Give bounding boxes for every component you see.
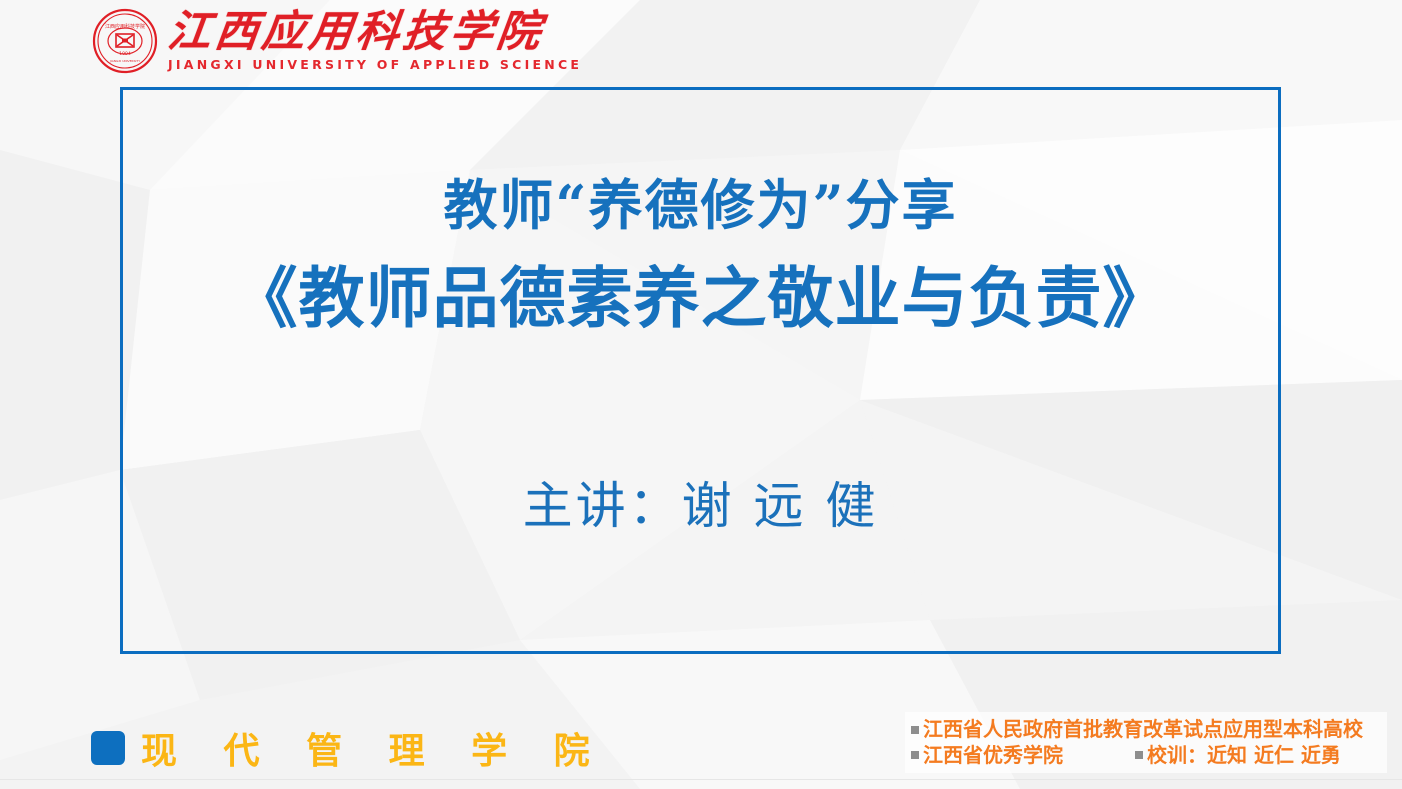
blue-square-marker-icon bbox=[91, 731, 125, 765]
university-name-cn: 江西应用科技学院 bbox=[165, 11, 584, 54]
footer-divider bbox=[0, 779, 1402, 780]
presenter-line: 主讲：谢 远 健 bbox=[123, 466, 1278, 538]
footer-department: 现 代 管 理 学 院 bbox=[91, 722, 607, 774]
slide-title-line-2: 《教师品德素养之敬业与负责》 bbox=[123, 260, 1278, 338]
title-block: 教师“养德修为”分享 《教师品德素养之敬业与负责》 bbox=[123, 174, 1278, 338]
presentation-slide: 江西应用科技学院 1994 JIANGXI UNIVERSITY 江西应用科技学… bbox=[0, 0, 1402, 789]
svg-text:1994: 1994 bbox=[119, 51, 131, 57]
accreditation-text-1: 江西省人民政府首批教育改革试点应用型本科高校 bbox=[923, 718, 1363, 742]
bullet-square-icon bbox=[1135, 751, 1143, 759]
university-name-en: JIANGXI UNIVERSITY OF APPLIED SCIENCE bbox=[168, 59, 582, 72]
svg-text:JIANGXI UNIVERSITY: JIANGXI UNIVERSITY bbox=[109, 59, 140, 63]
accreditation-text-2b: 校训：近知 近仁 近勇 bbox=[1147, 744, 1341, 768]
svg-text:江西应用科技学院: 江西应用科技学院 bbox=[105, 23, 145, 30]
accreditation-text-2a: 江西省优秀学院 bbox=[923, 744, 1063, 768]
university-logo-text: 江西应用科技学院 JIANGXI UNIVERSITY OF APPLIED S… bbox=[168, 11, 582, 72]
title-frame: 教师“养德修为”分享 《教师品德素养之敬业与负责》 主讲：谢 远 健 bbox=[120, 87, 1281, 654]
accreditation-row-1: 江西省人民政府首批教育改革试点应用型本科高校 bbox=[911, 718, 1383, 742]
bullet-square-icon bbox=[911, 726, 919, 734]
bullet-square-icon bbox=[911, 751, 919, 759]
footer-accreditation-banner: 江西省人民政府首批教育改革试点应用型本科高校 江西省优秀学院 校训：近知 近仁 … bbox=[905, 712, 1387, 773]
slide-title-line-1: 教师“养德修为”分享 bbox=[123, 174, 1278, 238]
department-name: 现 代 管 理 学 院 bbox=[141, 722, 607, 774]
university-logo: 江西应用科技学院 1994 JIANGXI UNIVERSITY 江西应用科技学… bbox=[92, 4, 582, 78]
university-seal-icon: 江西应用科技学院 1994 JIANGXI UNIVERSITY bbox=[92, 8, 158, 74]
accreditation-row-2: 江西省优秀学院 校训：近知 近仁 近勇 bbox=[911, 744, 1383, 768]
